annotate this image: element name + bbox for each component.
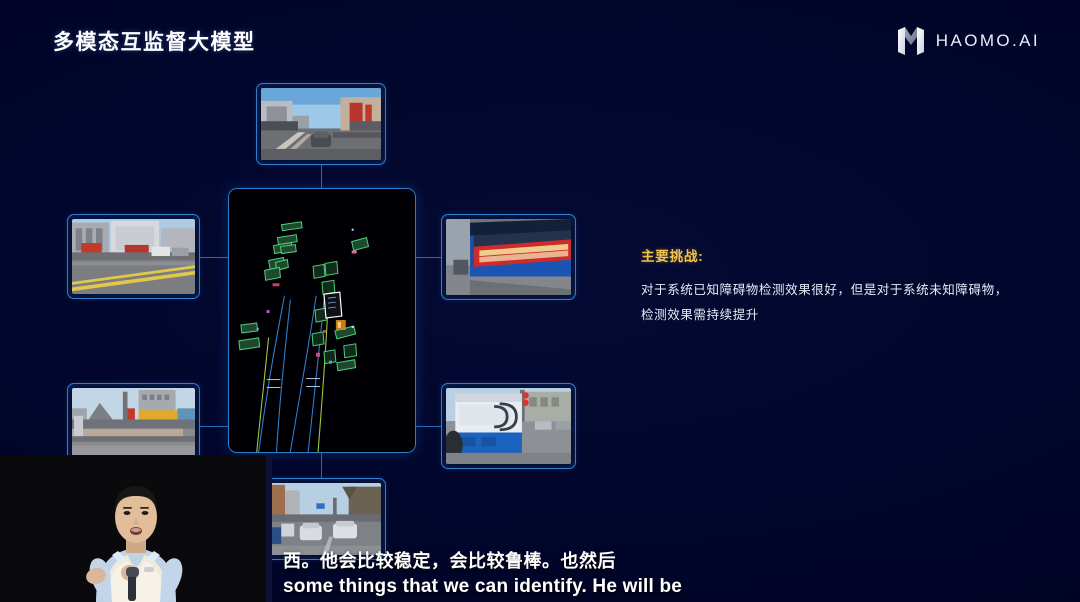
camera-image-right-lower	[446, 388, 571, 464]
camera-image-right-upper	[446, 219, 571, 295]
camera-thumb-left-upper[interactable]	[67, 214, 200, 299]
brand-logo: HAOMO.AI	[898, 27, 1040, 55]
brand-name: HAOMO.AI	[936, 31, 1040, 51]
camera-thumb-right-lower[interactable]	[441, 383, 576, 469]
slide-canvas: 多模态互监督大模型 HAOMO.AI	[0, 0, 1080, 602]
subtitle-english: some things that we can identify. He wil…	[283, 576, 1080, 598]
camera-image-front-bottom	[261, 483, 381, 555]
connector-left-lower	[200, 426, 228, 427]
connector-left-upper	[200, 257, 228, 258]
challenge-info-block: 主要挑战: 对于系统已知障碍物检测效果很好，但是对于系统未知障碍物， 检测效果需…	[641, 245, 1041, 328]
camera-thumb-right-upper[interactable]	[441, 214, 576, 300]
connector-right-upper	[416, 257, 441, 258]
camera-image-left-upper	[72, 219, 195, 294]
camera-image-left-lower	[72, 388, 195, 463]
subtitle-chinese: 西。他会比较稳定，会比较鲁棒。也然后	[283, 547, 1080, 573]
connector-top	[321, 164, 322, 188]
connector-right-lower	[416, 426, 441, 427]
bev-perception-panel[interactable]	[228, 188, 416, 453]
challenge-text: 对于系统已知障碍物检测效果很好，但是对于系统未知障碍物， 检测效果需持续提升	[641, 278, 1041, 328]
haomo-m-logo-icon	[898, 27, 924, 55]
slide-header: 多模态互监督大模型 HAOMO.AI	[0, 0, 1080, 72]
camera-thumb-front-top[interactable]	[256, 83, 386, 165]
camera-image-front-top	[261, 88, 381, 160]
challenge-text-line-2: 检测效果需持续提升	[641, 303, 1041, 328]
page-title: 多模态互监督大模型	[53, 26, 256, 56]
challenge-heading: 主要挑战:	[641, 245, 1041, 265]
subtitle-container: 西。他会比较稳定，会比较鲁棒。也然后 some things that we c…	[0, 547, 1080, 598]
connector-bottom	[321, 453, 322, 478]
challenge-text-line-1: 对于系统已知障碍物检测效果很好，但是对于系统未知障碍物，	[641, 278, 1041, 303]
